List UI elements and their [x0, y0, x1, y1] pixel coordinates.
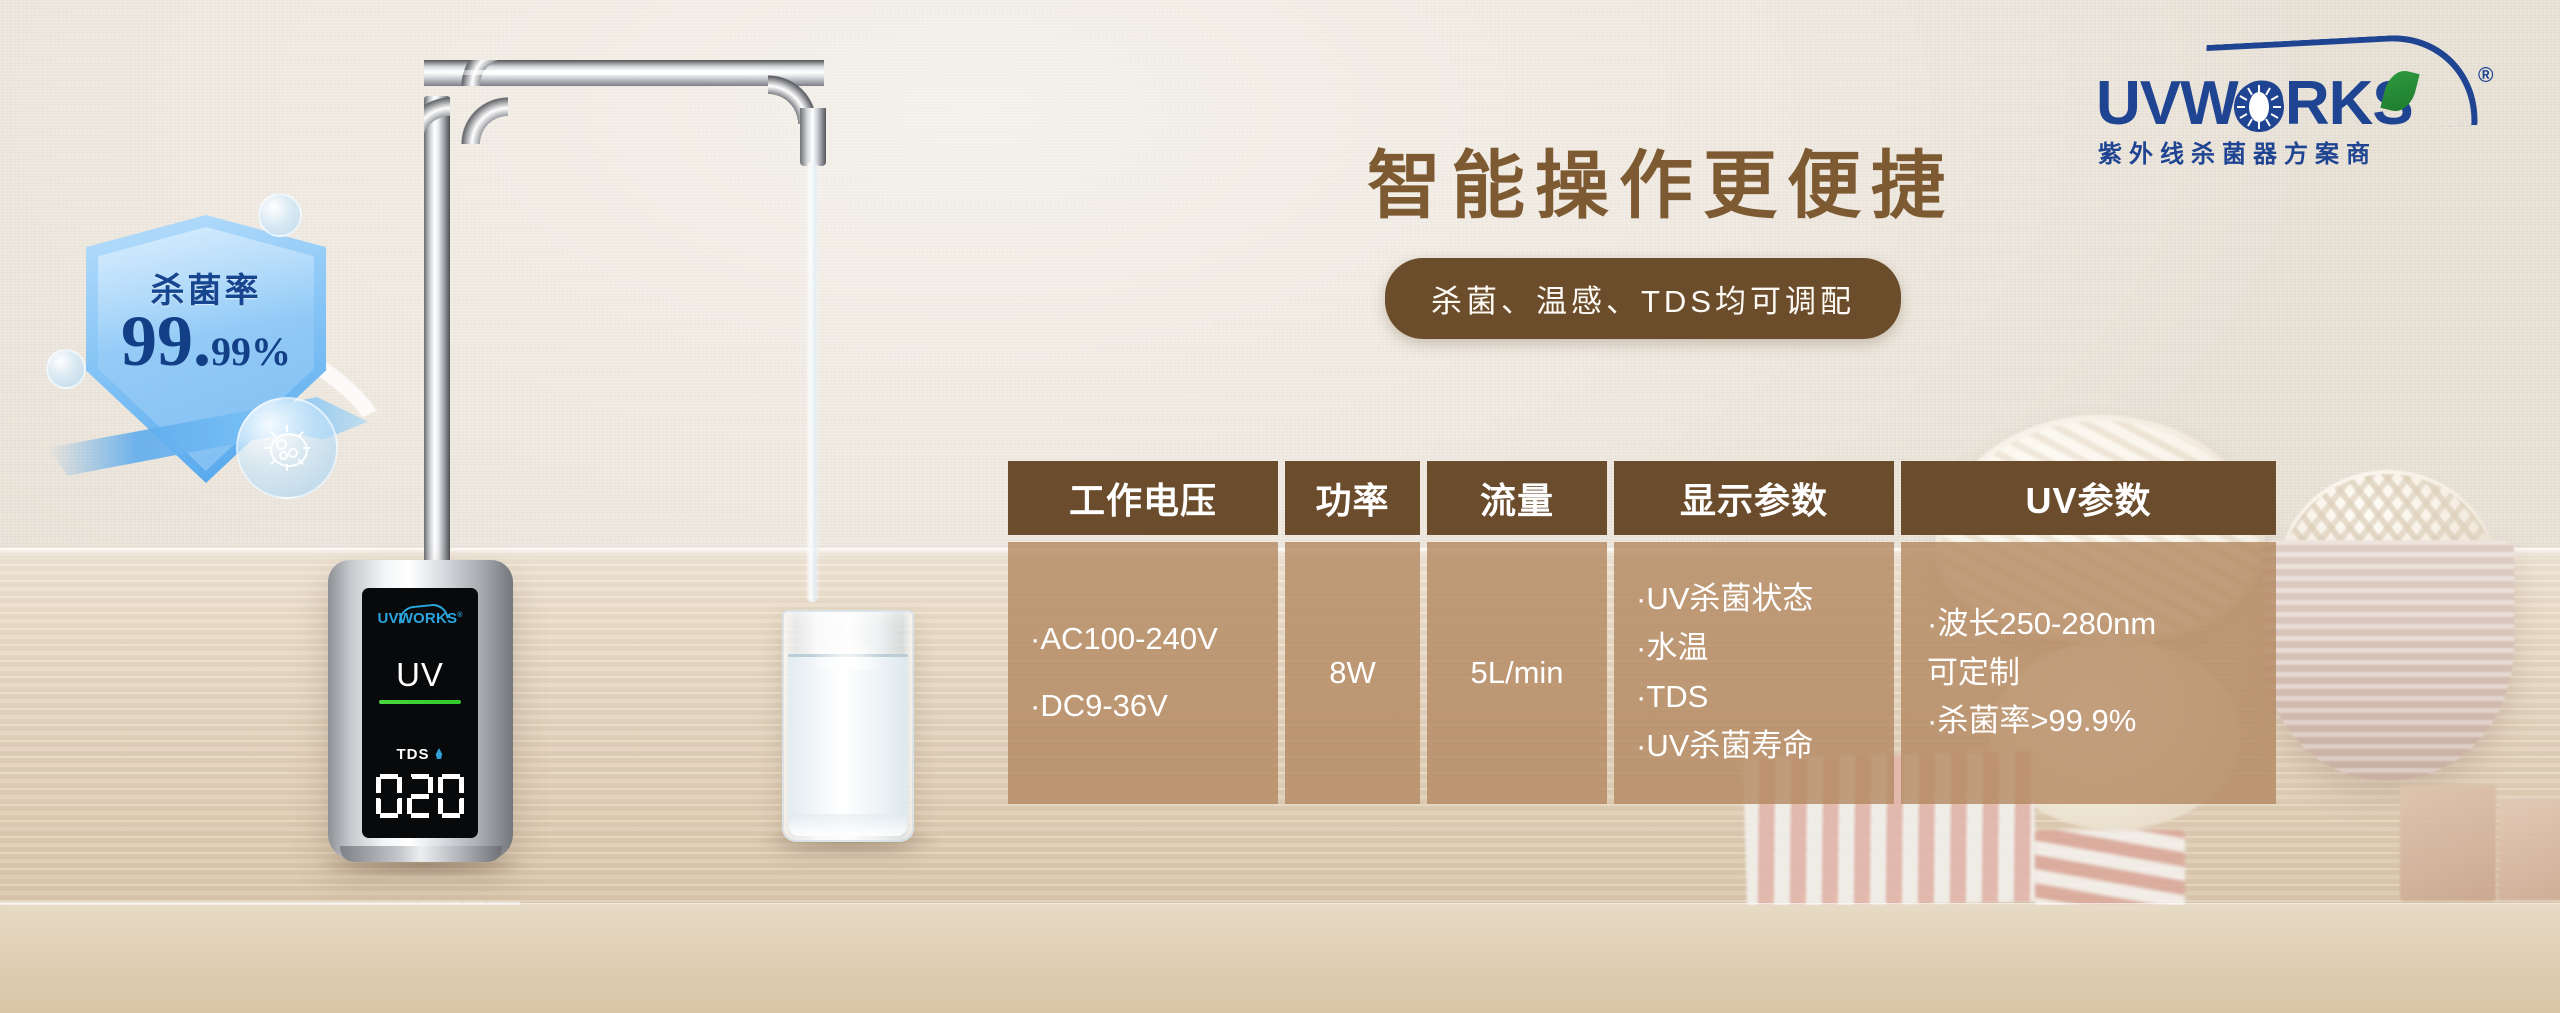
badge-value-major: 99 — [121, 301, 193, 381]
water-drop-icon — [435, 748, 444, 760]
bubble-icon — [258, 193, 302, 237]
uv-sterilizer-device: UVWORKS® UV TDS — [328, 560, 513, 860]
faucet-vertical-post — [424, 96, 450, 566]
product-banner: UVWORKS® UV TDS — [0, 0, 2560, 1013]
spec-cell: 5L/min — [1427, 542, 1607, 804]
germ-bubble — [236, 397, 338, 499]
device-tds-row: TDS — [362, 746, 478, 763]
wood-block-2 — [2498, 800, 2560, 900]
sunburst-icon — [2234, 82, 2284, 132]
badge-value-dot: . — [193, 301, 211, 381]
device-status-bar — [379, 700, 461, 704]
germ-icon — [262, 423, 314, 475]
faucet-spout — [800, 108, 826, 166]
device-display-screen: UVWORKS® UV TDS — [362, 588, 478, 838]
spec-header: UV参数 — [1901, 461, 2276, 535]
water-glass — [782, 610, 914, 842]
faucet-highlight — [430, 70, 816, 75]
seven-segment-digit — [407, 774, 433, 818]
spec-cell: ·波长250-280nm 可定制 ·杀菌率>99.9% — [1901, 542, 2276, 804]
spec-header: 显示参数 — [1614, 461, 1894, 535]
spec-header: 功率 — [1285, 461, 1420, 535]
spec-line: ·UV杀菌状态 — [1636, 575, 1813, 624]
logo-tagline: 紫外线杀菌器方案商 — [2098, 134, 2498, 169]
spec-column-voltage: 工作电压 ·AC100-240V ·DC9-36V — [1008, 461, 1278, 804]
counter-front-face — [0, 905, 2560, 1013]
sterilization-rate-badge: 杀菌率 99.99% — [40, 175, 380, 515]
device-mode-label: UV — [362, 656, 478, 694]
spec-header: 工作电压 — [1008, 461, 1278, 535]
spec-line: 5L/min — [1470, 649, 1563, 698]
seven-segment-digit — [376, 774, 402, 818]
spec-line: 8W — [1329, 649, 1376, 698]
device-base — [340, 846, 502, 862]
wood-block — [2400, 785, 2496, 901]
spec-line: ·AC100-240V — [1030, 615, 1218, 664]
brand-logo: UVWORKS ® 紫外线杀菌器方案商 — [2086, 30, 2506, 165]
device-tds-value-display — [362, 774, 478, 818]
page-title: 智能操作更便捷 — [1367, 126, 2007, 233]
glass-base — [789, 814, 907, 836]
water-stream — [806, 162, 819, 602]
spec-line: ·UV杀菌寿命 — [1636, 722, 1813, 771]
device-brand-logo: UVWORKS® — [362, 610, 478, 627]
glass-water-fill — [788, 654, 908, 832]
spec-column-uv: UV参数 ·波长250-280nm 可定制 ·杀菌率>99.9% — [1901, 461, 2276, 804]
spec-column-flow: 流量 5L/min — [1427, 461, 1607, 804]
spec-table: 工作电压 ·AC100-240V ·DC9-36V 功率 8W 流量 5L/mi… — [1008, 461, 2276, 804]
badge-value-minor: 99% — [211, 329, 291, 374]
spec-line: ·水温 — [1636, 624, 1708, 673]
spec-column-display: 显示参数 ·UV杀菌状态 ·水温 ·TDS ·UV杀菌寿命 — [1614, 461, 1894, 804]
bubble-icon — [46, 349, 86, 389]
glass-splash — [810, 634, 884, 670]
seven-segment-digit — [438, 774, 464, 818]
badge-value: 99.99% — [86, 305, 326, 377]
spec-line: ·TDS — [1636, 673, 1708, 722]
device-logo-trademark: ® — [457, 612, 462, 619]
spec-line: ·杀菌率>99.9% — [1927, 697, 2136, 746]
spec-cell: 8W — [1285, 542, 1420, 804]
spec-line: 可定制 — [1927, 649, 2020, 698]
spec-column-power: 功率 8W — [1285, 461, 1420, 804]
spec-cell: ·UV杀菌状态 ·水温 ·TDS ·UV杀菌寿命 — [1614, 542, 1894, 804]
spec-cell: ·AC100-240V ·DC9-36V — [1008, 542, 1278, 804]
spec-header: 流量 — [1427, 461, 1607, 535]
spec-line: ·DC9-36V — [1030, 682, 1168, 731]
feature-pill: 杀菌、温感、TDS均可调配 — [1385, 258, 1901, 339]
device-tds-label: TDS — [397, 746, 430, 763]
registered-trademark-icon: ® — [2478, 64, 2493, 88]
spec-line: ·波长250-280nm — [1927, 600, 2156, 649]
